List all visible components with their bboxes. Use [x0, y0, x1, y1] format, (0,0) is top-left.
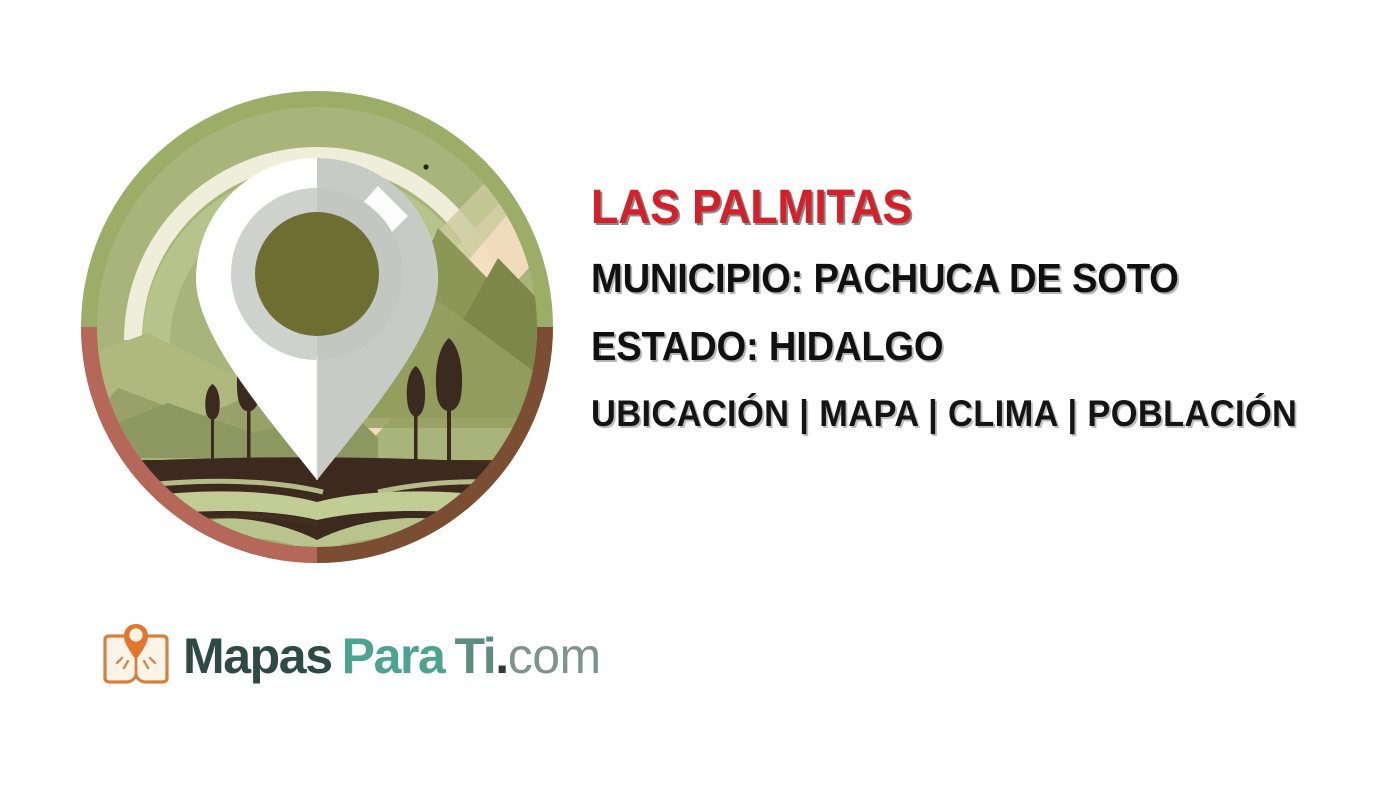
brand-word-ti: Ti	[454, 631, 495, 681]
brand-word-mapas: Mapas	[183, 631, 332, 681]
brand-word-para: Para	[342, 631, 445, 681]
page-title: LAS PALMITAS	[591, 184, 1326, 232]
emblem-container	[78, 88, 556, 566]
open-book-map-pin-icon	[98, 618, 174, 694]
sections-nav-line[interactable]: UBICACIÓN | MAPA | CLIMA | POBLACIÓN	[591, 395, 1326, 432]
brand-word-com: com	[508, 631, 601, 681]
brand-wordmark: Mapas Para Ti . com	[183, 631, 601, 681]
brand-logo[interactable]: Mapas Para Ti . com	[98, 618, 601, 694]
circular-landscape-map-pin-emblem	[78, 88, 556, 566]
brand-word-dot: .	[495, 631, 508, 681]
bird-dot-icon	[423, 164, 428, 169]
municipality-label: MUNICIPIO: PACHUCA DE SOTO	[591, 258, 1326, 299]
pin-center-dot	[255, 212, 379, 336]
state-label: ESTADO: HIDALGO	[591, 326, 1326, 367]
info-text-block: LAS PALMITAS MUNICIPIO: PACHUCA DE SOTO …	[591, 184, 1381, 432]
info-card: LAS PALMITAS MUNICIPIO: PACHUCA DE SOTO …	[0, 0, 1400, 786]
